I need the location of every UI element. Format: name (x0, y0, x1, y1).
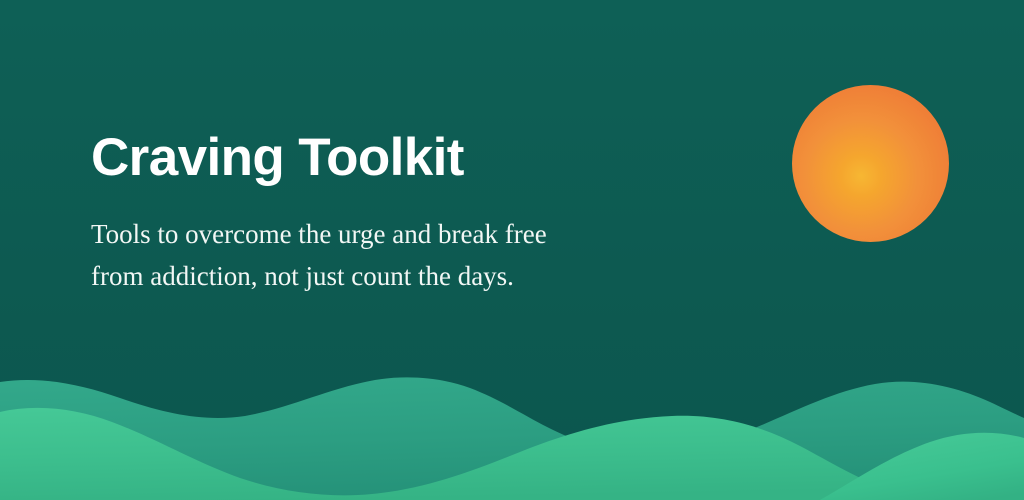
hero-text-block: Craving Toolkit Tools to overcome the ur… (91, 128, 711, 297)
sun-icon (792, 85, 949, 242)
page-subtitle: Tools to overcome the urge and break fre… (91, 187, 711, 297)
subtitle-line-1: Tools to overcome the urge and break fre… (91, 213, 711, 255)
craving-toolkit-hero-banner: Craving Toolkit Tools to overcome the ur… (0, 0, 1024, 500)
page-title: Craving Toolkit (91, 128, 711, 187)
subtitle-line-2: from addiction, not just count the days. (91, 255, 711, 297)
hills-svg (0, 360, 1024, 500)
hills-illustration (0, 360, 1024, 500)
